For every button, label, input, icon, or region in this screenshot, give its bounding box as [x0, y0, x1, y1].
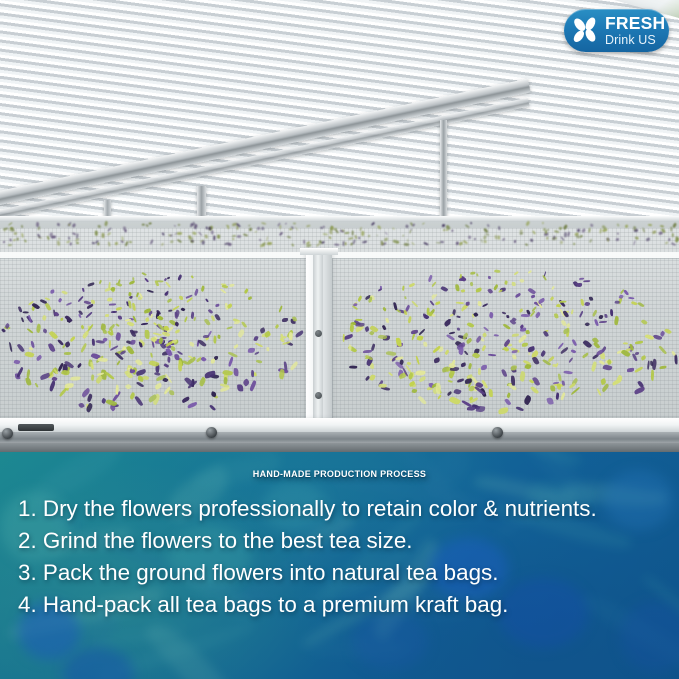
dried-flower-petal: [370, 363, 374, 369]
rail-bolt: [315, 330, 322, 337]
dried-flower-petal-far: [286, 235, 290, 238]
list-item: 4. Hand-pack all tea bags to a premium k…: [18, 589, 661, 621]
dried-flower-petal-far: [249, 227, 252, 231]
dried-flower-petal: [175, 354, 180, 361]
dried-flower-petal: [348, 344, 351, 350]
dried-flower-petal: [583, 280, 590, 282]
dried-flower-petal: [145, 330, 150, 339]
dried-flower-petal: [459, 278, 466, 281]
dried-flower-petal: [520, 328, 526, 332]
dried-flower-petal: [356, 322, 365, 327]
dried-flower-petal: [559, 300, 566, 302]
dried-flower-petal: [531, 294, 535, 298]
dried-flower-petal: [141, 323, 148, 325]
dried-flower-petal-far: [162, 232, 164, 235]
table-front-rail-shadow: [0, 443, 679, 452]
center-rail-cap: [300, 248, 338, 255]
dried-flower-petal: [102, 330, 106, 334]
logo-wordmark: FRESH Drink US: [605, 15, 665, 47]
dried-flower-petal: [512, 349, 518, 352]
list-item: 3. Pack the ground flowers into natural …: [18, 557, 661, 589]
dried-flower-petal: [511, 333, 518, 336]
dried-flower-petal: [282, 317, 288, 321]
dried-flower-petal: [128, 292, 132, 297]
dried-flower-petal-far: [51, 235, 56, 238]
dried-flower-petal: [579, 278, 584, 280]
dried-flower-petal: [109, 304, 116, 306]
page-title: HAND-MADE PRODUCTION PROCESS: [10, 470, 669, 479]
dried-flower-petal: [599, 321, 607, 323]
dried-flower-petal-far: [498, 226, 501, 230]
dried-flower-petal-far: [331, 226, 333, 229]
dried-flower-petal: [561, 381, 564, 386]
dried-flower-petal-far: [9, 238, 11, 241]
dried-flower-petal-far: [668, 238, 670, 241]
dried-flower-petal: [674, 354, 677, 364]
dried-flower-petal: [91, 375, 95, 381]
dried-flower-petal: [128, 300, 132, 308]
dried-flower-petal-far: [67, 236, 70, 239]
dried-flower-petal: [288, 332, 293, 340]
fresh-drink-us-logo[interactable]: FRESH Drink US: [564, 9, 669, 52]
drying-tray-right: [326, 252, 679, 430]
dried-flower-petal-far: [530, 239, 533, 242]
dried-flower-petal-far: [57, 223, 61, 226]
logo-line-fresh: FRESH: [605, 15, 665, 33]
dried-flower-petal: [635, 340, 644, 343]
list-item: 1. Dry the flowers professionally to ret…: [18, 493, 661, 525]
dried-flower-petal: [557, 383, 561, 389]
greenhouse-photo: FRESH Drink US: [0, 0, 679, 452]
rail-vent-slot: [18, 424, 54, 431]
dried-flower-petal: [610, 309, 613, 316]
dried-flower-petal: [521, 313, 530, 317]
dried-flower-petal: [355, 318, 362, 320]
dried-flower-petal-far: [546, 229, 549, 231]
dried-flower-petal: [23, 310, 29, 313]
dried-flower-petal-far: [395, 240, 399, 244]
process-step-list: 1. Dry the flowers professionally to ret…: [10, 493, 669, 620]
dried-flower-petal: [70, 377, 80, 381]
dried-flower-petal: [423, 342, 427, 347]
process-text-panel: HAND-MADE PRODUCTION PROCESS 1. Dry the …: [0, 452, 679, 679]
dried-flower-petal: [577, 283, 582, 287]
dried-flower-petal-far: [76, 242, 79, 245]
dried-flower-petal-far: [357, 236, 360, 239]
rail-bolt: [2, 428, 13, 439]
dried-flower-petal: [475, 405, 484, 412]
dried-flower-petal: [169, 390, 174, 395]
four-petal-flower-icon: [569, 14, 602, 47]
dried-flower-petal-far: [7, 244, 11, 246]
dried-flower-petal: [580, 299, 584, 306]
dried-flower-petal: [489, 389, 493, 397]
dried-flower-petal: [238, 384, 244, 391]
dried-flower-petal-far: [484, 240, 487, 243]
dried-flower-petal: [233, 368, 238, 377]
dried-flower-petal-far: [177, 232, 182, 235]
dried-flower-petal: [615, 300, 620, 304]
dried-flower-petal-far: [217, 234, 220, 238]
dried-flower-petal: [203, 335, 209, 338]
dried-flower-petal-far: [345, 242, 347, 245]
logo-line-drink-us: Drink US: [605, 34, 665, 47]
dried-flower-petal: [650, 361, 653, 366]
dried-flower-petal: [512, 354, 517, 359]
dried-flower-petal: [506, 315, 509, 318]
dried-flower-petal: [410, 330, 417, 334]
rail-bolt: [206, 427, 217, 438]
dried-flower-petal: [455, 284, 459, 291]
dried-flower-petal-far: [101, 233, 104, 238]
dried-flower-petal: [511, 376, 515, 386]
dried-flower-petal-far: [440, 241, 444, 243]
dried-flower-petal: [464, 378, 471, 383]
dried-flower-petal: [550, 385, 555, 391]
dried-flower-petal: [251, 370, 255, 377]
dried-flower-petal-far: [303, 240, 305, 244]
dried-flower-petal: [50, 289, 55, 293]
dried-flower-petal: [476, 273, 478, 276]
dried-flower-petal: [481, 364, 487, 369]
rail-bolt: [315, 392, 322, 399]
dried-flower-petal: [554, 313, 558, 318]
dried-flower-petal-far: [306, 244, 311, 247]
dried-flower-petal: [627, 368, 634, 372]
center-rail-groove: [313, 250, 323, 440]
dried-flower-petal-far: [115, 242, 118, 245]
panel-content: HAND-MADE PRODUCTION PROCESS 1. Dry the …: [0, 452, 679, 679]
dried-flower-petal: [108, 340, 111, 348]
dried-flower-petal: [111, 311, 117, 313]
rail-bolt: [492, 427, 503, 438]
dried-flower-petal: [510, 365, 516, 371]
product-infographic: FRESH Drink US HAND-MADE PRODUCTION PROC…: [0, 0, 679, 679]
list-item: 2. Grind the flowers to the best tea siz…: [18, 525, 661, 557]
dried-flower-petal: [118, 315, 122, 320]
dried-flower-petal-far: [204, 234, 207, 239]
dried-flower-petal: [511, 282, 515, 286]
dried-flower-petal-far: [21, 233, 24, 238]
